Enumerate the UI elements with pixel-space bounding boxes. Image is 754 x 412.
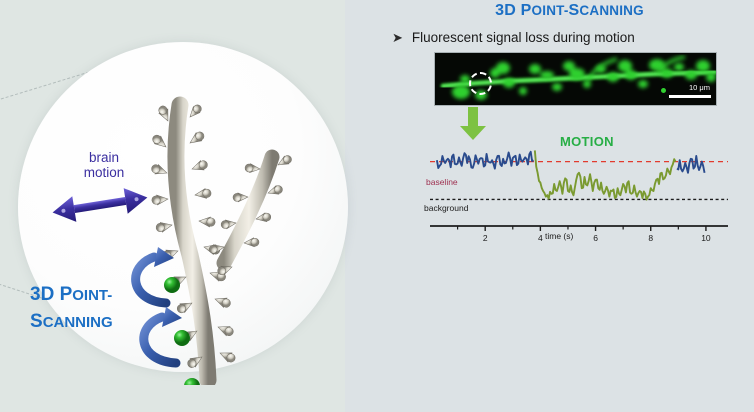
slide-root: brain motion [0,0,754,412]
scalebar-dot-icon [661,88,666,93]
svg-text:10: 10 [701,233,711,243]
arrow-bullet-icon: ➤ [392,29,403,46]
caption-line-1: 3D POINT- [30,282,150,309]
caption-line-2: SCANNING [30,309,150,336]
dashed-circle-roi [469,72,492,95]
left-panel-caption: 3D POINT- SCANNING [30,282,150,336]
green-down-arrow-icon [458,107,488,141]
svg-text:8: 8 [648,233,653,243]
page-title: 3D POINT-SCANNING [385,2,754,20]
bullet-text: Fluorescent signal loss during motion [412,29,635,46]
svg-text:6: 6 [593,233,598,243]
baseline-label: baseline [426,177,458,187]
brain-motion-line1: brain [89,150,119,165]
brain-motion-line2: motion [84,165,125,180]
dendrite-micrograph: 10 μm [434,52,717,106]
x-axis-label: time (s) [545,231,573,241]
bullet-item: ➤ Fluorescent signal loss during motion [392,29,752,46]
svg-text:4: 4 [538,233,543,243]
scalebar-line [669,95,711,98]
background-label: background [424,203,468,213]
svg-text:2: 2 [483,233,488,243]
fluorescence-trace-chart: 246810 [424,140,734,250]
scalebar-label: 10 μm [689,83,710,92]
